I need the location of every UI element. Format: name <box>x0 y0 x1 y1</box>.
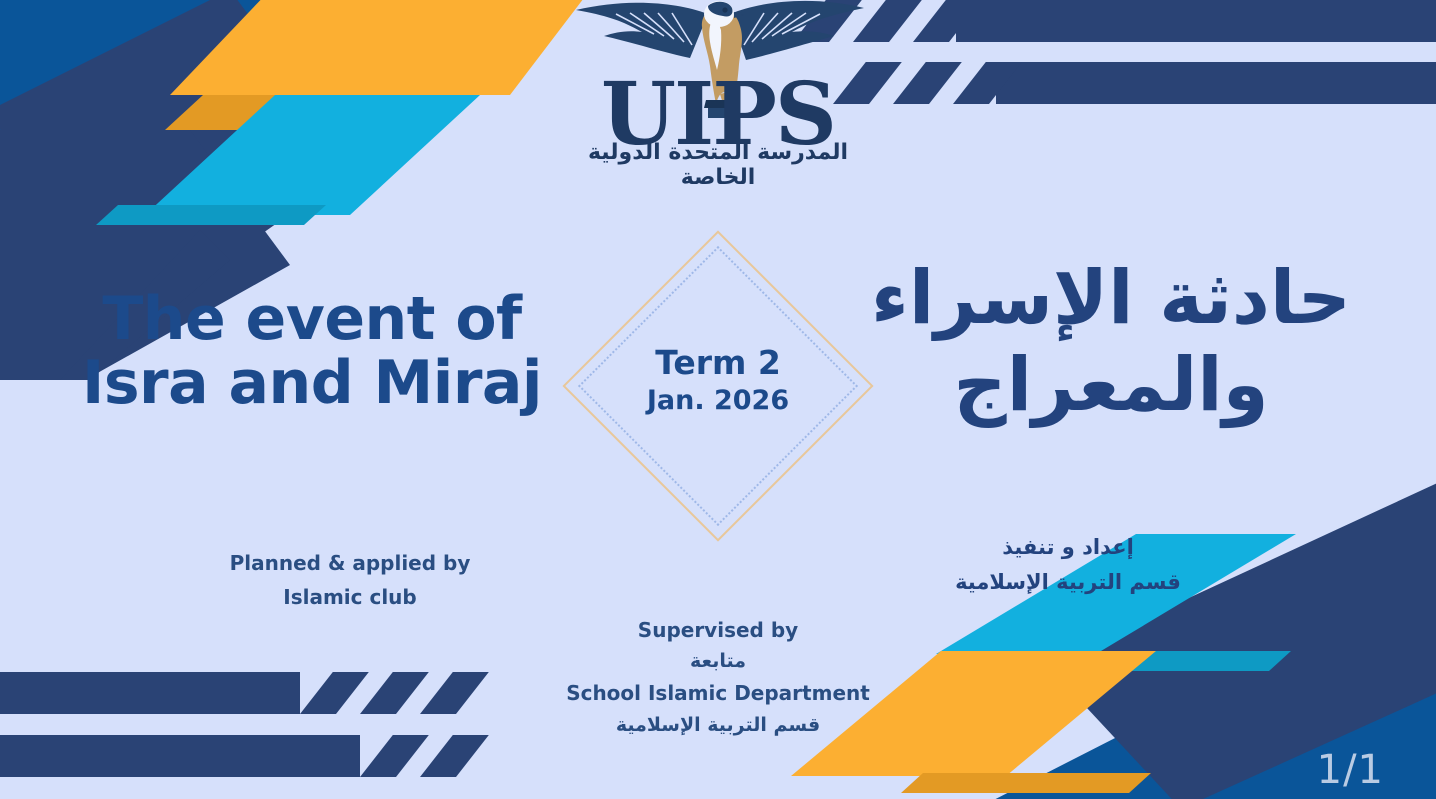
logo-arabic-name: المدرسة المتحدة الدولية الخاصة <box>553 140 883 190</box>
decor-diagonal-stripe <box>893 62 962 104</box>
svg-text:UIPS: UIPS <box>601 64 835 146</box>
credit-center-line1: Supervised by <box>508 614 928 646</box>
decor-bottom-left-bar <box>0 672 300 714</box>
credit-left-line1: Planned & applied by <box>185 546 515 580</box>
title-english-line1: The event of <box>52 288 572 352</box>
decor-bottom-right-cyan-shadow <box>1061 651 1291 671</box>
falcon-icon: UIPS <box>558 0 878 146</box>
decor-stripe-bar <box>996 62 1436 104</box>
credit-right-line1: إعداد و تنفيذ <box>898 530 1238 565</box>
page-title-english: The event of Isra and Miraj <box>52 288 572 415</box>
decor-diagonal-stripe <box>360 735 429 777</box>
school-logo: UIPS المدرسة المتحدة الدولية الخاصة <box>553 0 883 190</box>
decor-diagonal-stripe <box>953 62 1022 104</box>
page-indicator: 1/1 <box>1317 747 1384 793</box>
decor-top-left-cyan-band <box>100 95 480 220</box>
decor-diagonal-stripe <box>300 672 369 714</box>
credit-planned-by: Planned & applied by Islamic club <box>185 546 515 615</box>
decor-diagonal-stripe <box>420 735 489 777</box>
decor-stripe-bar <box>956 0 1436 42</box>
credit-left-line2: Islamic club <box>185 580 515 614</box>
page-title-arabic: حادثة الإسراء والمعراج <box>826 255 1396 430</box>
credit-center-line2: متابعة <box>508 646 928 677</box>
decor-diagonal-stripe <box>420 672 489 714</box>
decor-top-left-cyan-shadow <box>96 205 336 227</box>
term-diamond-badge: Term 2 Jan. 2026 <box>562 230 874 542</box>
credit-center-line3: School Islamic Department <box>508 677 928 709</box>
diamond-text-group: Term 2 Jan. 2026 <box>562 342 874 420</box>
credit-supervised-by: Supervised by متابعة School Islamic Depa… <box>508 614 928 740</box>
decor-top-left-blue-wedge <box>0 0 510 320</box>
decor-bottom-right-orange-shadow <box>901 773 1151 793</box>
title-arabic-line2: والمعراج <box>826 342 1396 429</box>
presentation-slide: UIPS المدرسة المتحدة الدولية الخاصة The … <box>0 0 1436 799</box>
decor-top-left-orange-shadow <box>165 95 365 135</box>
decor-diagonal-stripe <box>360 672 429 714</box>
credit-center-line4: قسم التربية الإسلامية <box>508 710 928 741</box>
title-english-line2: Isra and Miraj <box>52 352 572 416</box>
decor-top-right-stripes <box>850 0 1436 120</box>
credit-right-line2: قسم التربية الإسلامية <box>898 565 1238 600</box>
decor-top-left-orange-band <box>170 0 590 190</box>
decor-diagonal-stripe <box>913 0 982 42</box>
title-arabic-line1: حادثة الإسراء <box>826 255 1396 342</box>
term-label: Term 2 <box>562 342 874 383</box>
date-label: Jan. 2026 <box>562 383 874 419</box>
decor-bottom-left-bar <box>0 735 360 777</box>
credit-prepared-by-arabic: إعداد و تنفيذ قسم التربية الإسلامية <box>898 530 1238 601</box>
